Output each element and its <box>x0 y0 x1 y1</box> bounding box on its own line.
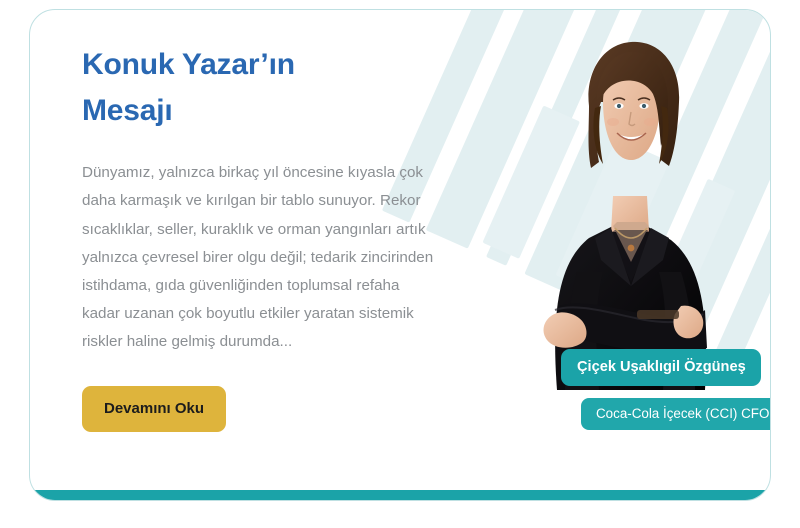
diagonal-stripes-secondary-icon <box>455 93 771 376</box>
guest-author-card: Konuk Yazar’ın Mesajı Dünyamız, yalnızca… <box>29 9 771 501</box>
card-body-text: Dünyamız, yalnızca birkaç yıl öncesine k… <box>82 159 434 356</box>
page-title: Konuk Yazar’ın Mesajı <box>82 42 482 133</box>
speaker-portrait-photo <box>485 10 771 390</box>
card-bottom-accent-bar <box>30 490 770 500</box>
screenshot-root: Konuk Yazar’ın Mesajı Dünyamız, yalnızca… <box>0 0 800 528</box>
read-more-button[interactable]: Devamını Oku <box>82 386 226 432</box>
speaker-role-badge: Coca-Cola İçecek (CCI) CFO <box>581 398 771 430</box>
card-content: Konuk Yazar’ın Mesajı Dünyamız, yalnızca… <box>82 42 482 432</box>
speaker-name-badge: Çiçek Uşaklıgil Özgüneş <box>561 349 761 386</box>
